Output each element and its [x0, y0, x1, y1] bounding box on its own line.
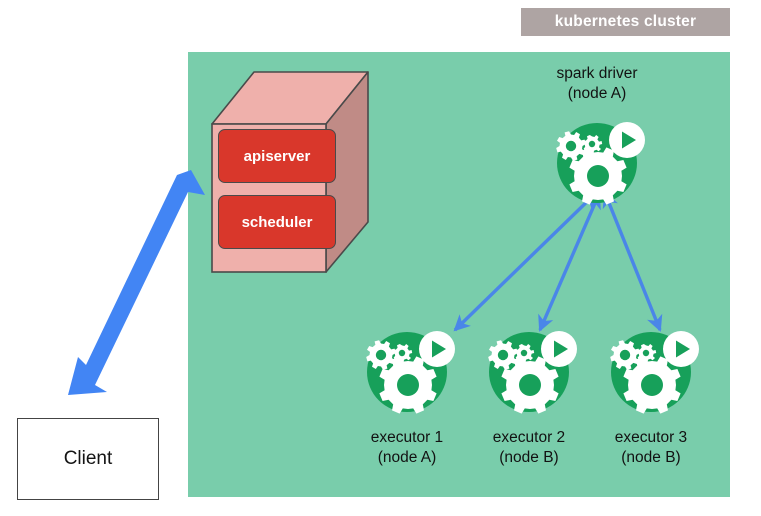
client-label: Client — [64, 448, 113, 470]
scheduler-component[interactable]: scheduler — [218, 195, 336, 249]
executor-3-node-icon[interactable] — [610, 331, 699, 414]
spark-driver-subtitle: (node A) — [517, 84, 677, 103]
scheduler-label: scheduler — [219, 196, 335, 248]
executor-3-title: executor 3 — [581, 428, 721, 447]
apiserver-component[interactable]: apiserver — [218, 129, 336, 183]
executor-2-subtitle: (node B) — [459, 448, 599, 467]
spark-submit-arrow — [68, 170, 205, 395]
executor-3-subtitle: (node B) — [581, 448, 721, 467]
executor-2-title: executor 2 — [459, 428, 599, 447]
connector-driver-executor-1 — [455, 193, 596, 330]
connector-driver-executor-3 — [605, 193, 660, 330]
client-box[interactable]: Client — [17, 418, 159, 500]
executor-1-title: executor 1 — [337, 428, 477, 447]
spark-driver-node-icon[interactable] — [556, 122, 645, 205]
connector-driver-executor-2 — [540, 194, 599, 330]
apiserver-label: apiserver — [219, 130, 335, 182]
spark-driver-title: spark driver — [517, 64, 677, 83]
diagram-canvas: kubernetes cluster — [0, 0, 761, 516]
executor-1-node-icon[interactable] — [366, 331, 455, 414]
executor-2-node-icon[interactable] — [488, 331, 577, 414]
driver-executor-connectors — [455, 193, 660, 330]
executor-1-subtitle: (node A) — [337, 448, 477, 467]
